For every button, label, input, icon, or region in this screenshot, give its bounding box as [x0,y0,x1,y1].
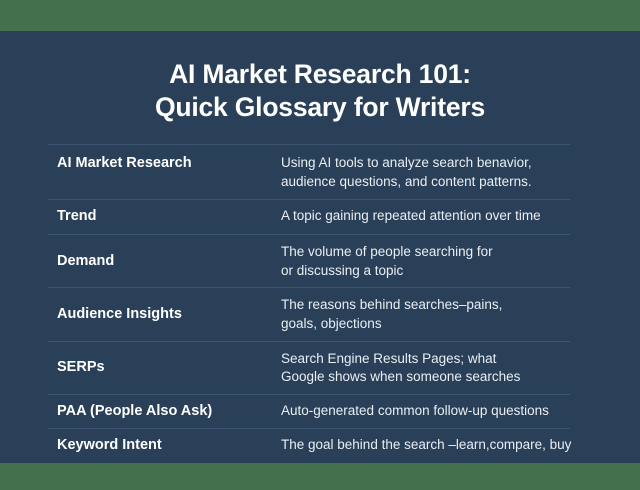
page-title: AI Market Research 101: Quick Glossary f… [48,31,592,123]
table-row: Audience Insights The reasons behind sea… [48,287,570,340]
glossary-definition: The volume of people searching for or di… [281,243,570,280]
glossary-term: Trend [48,207,281,227]
glossary-term: Audience Insights [48,305,281,325]
glossary-definition: Auto-generated common follow-up question… [281,402,570,421]
glossary-term: SERPs [48,358,281,378]
table-row: AI Market Research Using AI tools to ana… [48,144,570,199]
glossary-term: Demand [48,252,281,272]
table-row: Trend A topic gaining repeated attention… [48,199,570,234]
page-title-line-1: AI Market Research 101: [48,58,592,91]
definition-line: audience questions, and content patterns… [281,173,570,192]
definition-line: Search Engine Results Pages; what [281,350,570,369]
glossary-definition: The goal behind the search –learn,compar… [281,436,571,455]
page-title-line-2: Quick Glossary for Writers [48,91,592,124]
table-row: Demand The volume of people searching fo… [48,234,570,287]
glossary-term: Keyword Intent [48,436,281,456]
definition-line: A topic gaining repeated attention over … [281,207,570,226]
slide-body: AI Market Research 101: Quick Glossary f… [0,31,640,463]
slide-root: AI Market Research 101: Quick Glossary f… [0,0,640,486]
definition-line: The volume of people searching for [281,243,570,262]
top-accent-bar [0,0,640,31]
definition-line: Auto-generated common follow-up question… [281,402,570,421]
definition-line: The goal behind the search –learn,compar… [281,436,571,455]
definition-line: Using AI tools to analyze search benavio… [281,154,570,173]
definition-line: goals, objections [281,315,570,334]
table-row: Keyword Intent The goal behind the searc… [48,428,570,463]
glossary-definition: Using AI tools to analyze search benavio… [281,154,570,191]
glossary-term: AI Market Research [48,154,281,174]
table-row: SERPs Search Engine Results Pages; what … [48,341,570,394]
definition-line: Google shows when someone searches [281,368,570,387]
glossary-definition: A topic gaining repeated attention over … [281,207,570,226]
glossary-definition: Search Engine Results Pages; what Google… [281,350,570,387]
table-row: PAA (People Also Ask) Auto-generated com… [48,394,570,429]
glossary-definition: The reasons behind searches–pains, goals… [281,296,570,333]
glossary-term: PAA (People Also Ask) [48,402,281,422]
glossary-table: AI Market Research Using AI tools to ana… [48,144,570,463]
definition-line: or discussing a topic [281,262,570,281]
definition-line: The reasons behind searches–pains, [281,296,570,315]
